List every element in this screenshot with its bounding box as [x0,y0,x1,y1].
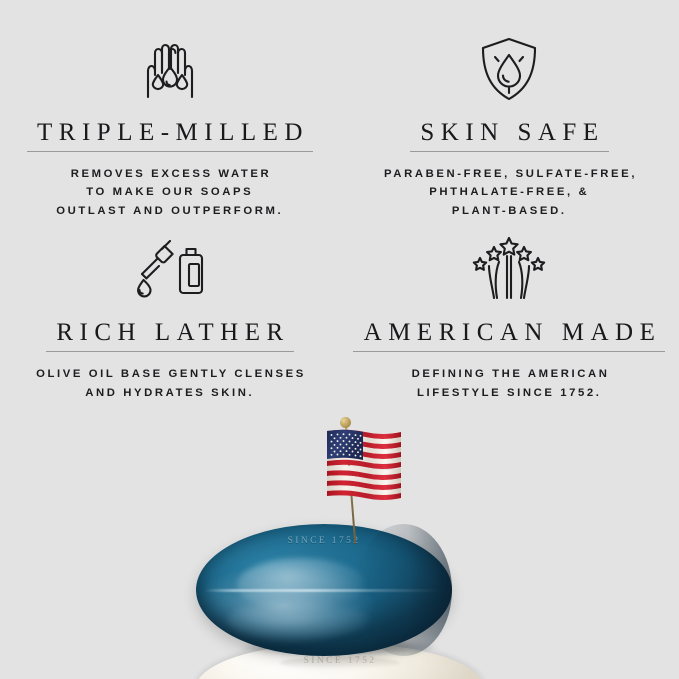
feature-body: OLIVE OIL BASE GENTLY CLENSES AND HYDRAT… [34,365,306,402]
feature-body: PARABEN-FREE, SULFATE-FREE, PHTHALATE-FR… [381,165,637,220]
feature-grid: TRIPLE-MILLED REMOVES EXCESS WATER TO MA… [0,0,679,440]
flag-canton [327,430,363,460]
feature-body: REMOVES EXCESS WATER TO MAKE OUR SOAPS O… [56,165,283,220]
fireworks-stars-icon [469,232,549,306]
feature-rich-lather: RICH LATHER OLIVE OIL BASE GENTLY CLENSE… [0,220,340,440]
product-feature-graphic: TRIPLE-MILLED REMOVES EXCESS WATER TO MA… [0,0,679,679]
flag-fabric [318,422,410,504]
hands-with-droplets-icon [134,32,206,106]
feature-skin-safe: SKIN SAFE PARABEN-FREE, SULFATE-FREE, PH… [340,0,679,220]
feature-body: DEFINING THE AMERICAN LIFESTYLE SINCE 17… [409,365,610,402]
american-flag [318,412,418,547]
dropper-and-bottle-icon [132,232,208,306]
feature-american-made: AMERICAN MADE DEFINING THE AMERICAN LIFE… [340,220,679,440]
feature-title: SKIN SAFE [410,120,609,152]
shield-with-droplet-icon [477,32,541,106]
cream-soap-emboss-text: SINCE 1752 [304,656,377,666]
soap-highlight-lower [227,601,370,641]
feature-title: TRIPLE-MILLED [27,120,313,152]
feature-triple-milled: TRIPLE-MILLED REMOVES EXCESS WATER TO MA… [0,0,340,220]
feature-title: AMERICAN MADE [353,320,665,352]
feature-title: RICH LATHER [46,320,294,352]
